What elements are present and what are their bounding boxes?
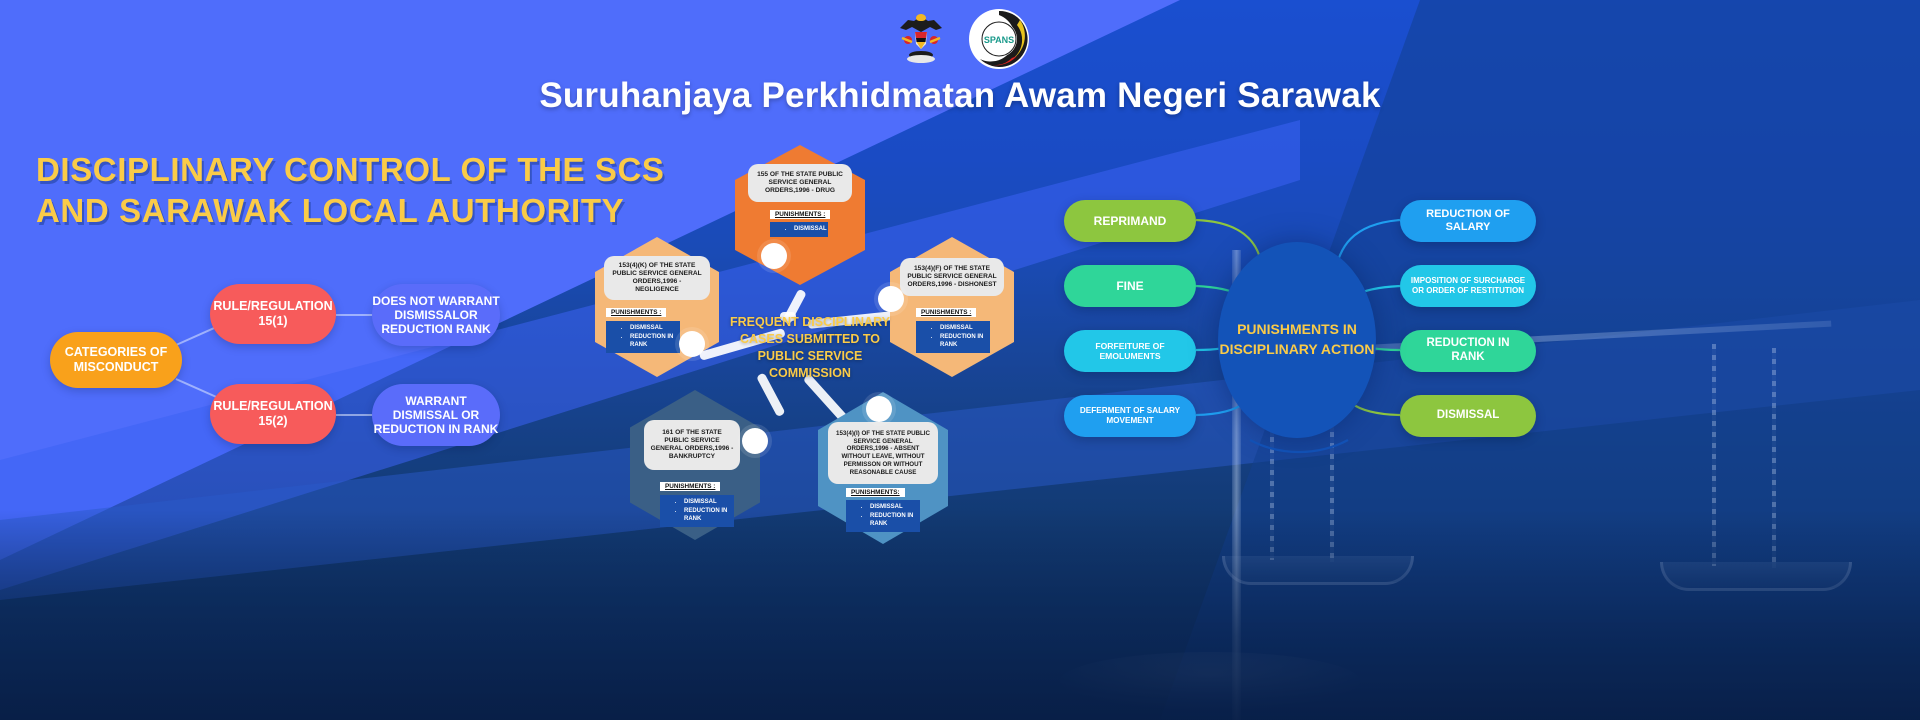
hex-negligence-punishments-list: DISMISSAL REDUCTION IN RANK: [606, 321, 680, 353]
punishment-item: REDUCTION IN RANK: [870, 512, 914, 529]
punishment-deferment-of-salary-movement[interactable]: DEFERMENT OF SALARY MOVEMENT: [1064, 395, 1196, 437]
rule-regulation-15-1-node[interactable]: RULE/REGULATION 15(1): [210, 284, 336, 344]
hex-drug-punishments-heading: PUNISHMENTS :: [770, 210, 830, 219]
spans-logo-icon: SPANS: [968, 8, 1030, 70]
punishment-reduction-of-salary[interactable]: REDUCTION OF SALARY: [1400, 200, 1536, 242]
hex-absent-card: 153(4)(I) OF THE STATE PUBLIC SERVICE GE…: [828, 422, 938, 484]
punishment-item: REDUCTION IN RANK: [684, 507, 728, 524]
outcome-warrant-dismissal-node[interactable]: WARRANT DISMISSAL OR REDUCTION IN RANK: [372, 384, 500, 446]
main-heading-line1: DISCIPLINARY CONTROL OF THE SCS: [36, 150, 656, 191]
main-heading: DISCIPLINARY CONTROL OF THE SCS AND SARA…: [36, 150, 656, 232]
node-dot-absent[interactable]: [866, 396, 892, 422]
punishment-item: DISMISSAL: [794, 225, 822, 234]
spans-logo-text: SPANS: [984, 35, 1014, 45]
punishments-hub[interactable]: PUNISHMENTS IN DISCIPLINARY ACTION: [1218, 242, 1376, 438]
categories-of-misconduct-node[interactable]: CATEGORIES OF MISCONDUCT: [50, 332, 182, 388]
infographic-canvas: SPANS Suruhanjaya Perkhidmatan Awam Nege…: [0, 0, 1920, 720]
hex-bankruptcy-punishments-list: DISMISSAL REDUCTION IN RANK: [660, 495, 734, 527]
punishment-item: DISMISSAL: [940, 324, 984, 333]
punishment-item: REDUCTION IN RANK: [630, 333, 674, 350]
header-logos: SPANS: [0, 6, 1920, 72]
page-title: Suruhanjaya Perkhidmatan Awam Negeri Sar…: [0, 76, 1920, 116]
punishment-item: REDUCTION IN RANK: [940, 333, 984, 350]
punishment-reprimand[interactable]: REPRIMAND: [1064, 200, 1196, 242]
center-cluster-label: FREQUENT DISCIPLINARY CASES SUBMITTED TO…: [730, 314, 890, 382]
punishment-item: DISMISSAL: [630, 324, 674, 333]
punishment-imposition-of-surcharge[interactable]: IMPOSITION OF SURCHARGE OR ORDER OF REST…: [1400, 265, 1536, 307]
node-dot-bankruptcy[interactable]: [742, 428, 768, 454]
background-bottom-shade: [0, 510, 1920, 720]
node-dot-negligence[interactable]: [679, 331, 705, 357]
connector-rule2-to-outcome2: [336, 414, 376, 416]
punishment-item: DISMISSAL: [870, 503, 914, 512]
outcome-no-dismissal-node[interactable]: DOES NOT WARRANT DISMISSALOR REDUCTION R…: [372, 284, 500, 346]
hex-drug-card: 155 OF THE STATE PUBLIC SERVICE GENERAL …: [748, 164, 852, 202]
hex-bankruptcy-card: 161 OF THE STATE PUBLIC SERVICE GENERAL …: [644, 420, 740, 470]
hex-absent-punishments-heading: PUNISHMENTS:: [846, 488, 905, 497]
hex-bankruptcy-punishments-heading: PUNISHMENTS :: [660, 482, 720, 491]
punishment-reduction-in-rank[interactable]: REDUCTION IN RANK: [1400, 330, 1536, 372]
hex-drug-punishments-list: DISMISSAL: [770, 222, 828, 237]
hex-negligence-punishments-heading: PUNISHMENTS :: [606, 308, 666, 317]
node-dot-drug[interactable]: [761, 243, 787, 269]
punishment-forfeiture-of-emoluments[interactable]: FORFEITURE OF EMOLUMENTS: [1064, 330, 1196, 372]
hex-dishonest-card: 153(4)(F) OF THE STATE PUBLIC SERVICE GE…: [900, 258, 1004, 296]
sarawak-coat-of-arms-icon: [890, 8, 952, 70]
connector-rule1-to-outcome1: [336, 314, 376, 316]
main-heading-line2: AND SARAWAK LOCAL AUTHORITY: [36, 191, 656, 232]
hex-negligence-card: 153(4)(K) OF THE STATE PUBLIC SERVICE GE…: [604, 256, 710, 300]
hex-dishonest-punishments-heading: PUNISHMENTS :: [916, 308, 976, 317]
punishment-item: DISMISSAL: [684, 498, 728, 507]
node-dot-dishonest[interactable]: [878, 286, 904, 312]
hex-dishonest-punishments-list: DISMISSAL REDUCTION IN RANK: [916, 321, 990, 353]
punishment-fine[interactable]: FINE: [1064, 265, 1196, 307]
hex-absent-punishments-list: DISMISSAL REDUCTION IN RANK: [846, 500, 920, 532]
rule-regulation-15-2-node[interactable]: RULE/REGULATION 15(2): [210, 384, 336, 444]
punishment-dismissal[interactable]: DISMISSAL: [1400, 395, 1536, 437]
